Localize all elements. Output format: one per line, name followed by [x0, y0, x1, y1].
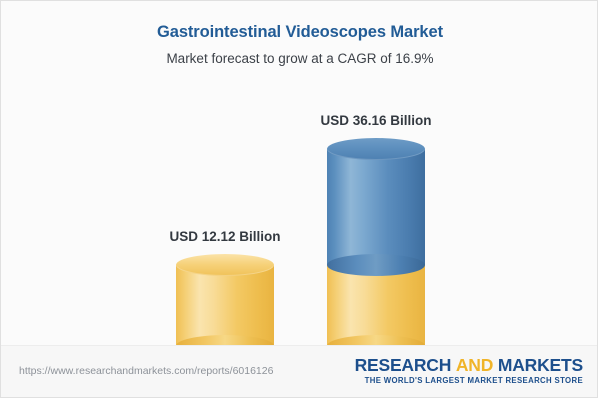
- chart-card: Gastrointestinal Videoscopes Market Mark…: [0, 0, 598, 398]
- segment-body: [327, 265, 425, 346]
- research-and-markets-logo[interactable]: RESEARCH AND MARKETS THE WORLD'S LARGEST…: [355, 356, 583, 385]
- chart-header: Gastrointestinal Videoscopes Market Mark…: [1, 1, 598, 66]
- logo-word-and: AND: [456, 355, 493, 375]
- chart-plot-area: USD 12.12 Billion 2025 USD 36.16 Billion: [1, 81, 598, 346]
- logo-wordmark: RESEARCH AND MARKETS: [355, 356, 583, 374]
- bar-cylinder-2032[interactable]: [327, 149, 425, 346]
- segment-body: [176, 265, 274, 346]
- bar-group-2025: USD 12.12 Billion 2025: [176, 265, 274, 346]
- chart-footer: https://www.researchandmarkets.com/repor…: [1, 345, 598, 397]
- logo-tagline: THE WORLD'S LARGEST MARKET RESEARCH STOR…: [355, 376, 583, 385]
- source-url-link[interactable]: https://www.researchandmarkets.com/repor…: [19, 365, 273, 377]
- bar-cylinder-2025[interactable]: [176, 265, 274, 346]
- bar-group-2032: USD 36.16 Billion 2032: [327, 149, 425, 346]
- bar-value-label-2032: USD 36.16 Billion: [271, 113, 481, 128]
- segment-body: [327, 149, 425, 265]
- cylinder-top-cap: [327, 138, 425, 160]
- chart-title: Gastrointestinal Videoscopes Market: [1, 23, 598, 42]
- bar-segment-growth: [327, 149, 425, 265]
- logo-word-markets: MARKETS: [498, 355, 583, 375]
- logo-word-research: RESEARCH: [355, 355, 452, 375]
- bar-value-label-2025: USD 12.12 Billion: [120, 229, 330, 244]
- bar-segment-base: [176, 265, 274, 346]
- bar-segment-base: [327, 265, 425, 346]
- cylinder-top-cap: [176, 254, 274, 276]
- chart-subtitle: Market forecast to grow at a CAGR of 16.…: [1, 51, 598, 66]
- segment-bottom-cap: [327, 254, 425, 276]
